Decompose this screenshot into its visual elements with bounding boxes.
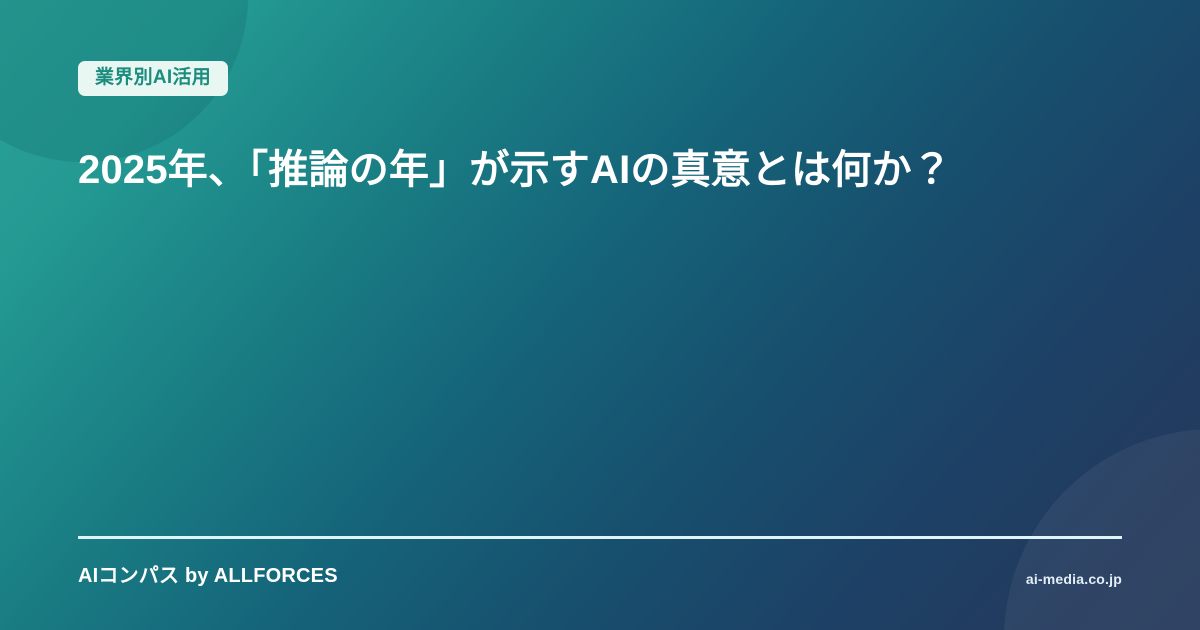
page-title: 2025年、「推論の年」が示すAIの真意とは何か？ (78, 142, 1138, 199)
footer: AIコンパス by ALLFORCES ai-media.co.jp (78, 536, 1122, 586)
category-badge: 業界別AI活用 (78, 61, 228, 96)
decorative-circle-bottom-right (1004, 429, 1200, 630)
og-card: 業界別AI活用 2025年、「推論の年」が示すAIの真意とは何か？ AIコンパス… (0, 0, 1200, 630)
site-url: ai-media.co.jp (1026, 572, 1122, 586)
brand-name: AIコンパス by ALLFORCES (78, 566, 338, 586)
title-container: 2025年、「推論の年」が示すAIの真意とは何か？ (78, 142, 1138, 199)
footer-divider (78, 536, 1122, 539)
category-badge-container: 業界別AI活用 (78, 61, 228, 96)
footer-row: AIコンパス by ALLFORCES ai-media.co.jp (78, 566, 1122, 586)
